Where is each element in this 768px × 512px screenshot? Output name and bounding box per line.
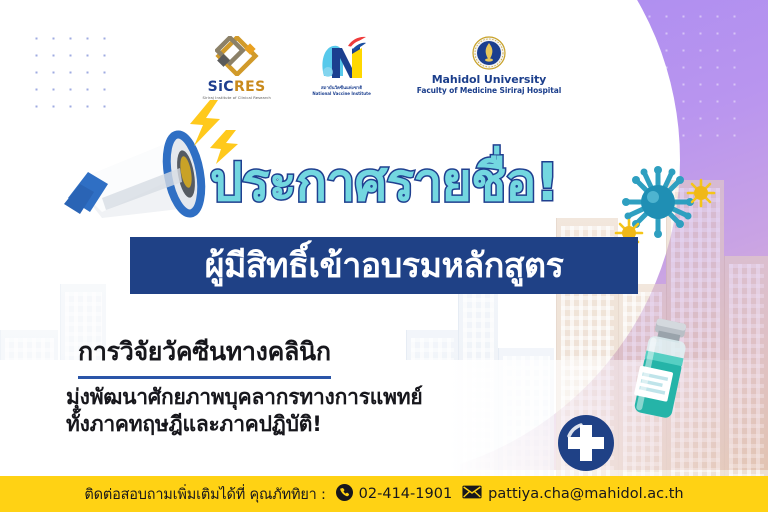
mahidol-name: Mahidol University	[432, 73, 547, 86]
body-line-1: มุ่งพัฒนาศักยภาพบุคลากรทางการแพทย์	[66, 384, 423, 411]
band-title: ผู้มีสิทธิ์เข้าอบรมหลักสูตร	[205, 249, 564, 283]
subtitle-band: ผู้มีสิทธิ์เข้าอบรมหลักสูตร	[130, 237, 638, 294]
body-copy: มุ่งพัฒนาศักยภาพบุคลากรทางการแพทย์ ทั้งภ…	[66, 384, 423, 438]
logo-row: SiCRES Siriraj Institute of Clinical Res…	[0, 36, 768, 100]
body-line-2: ทั้งภาคทฤษฎีและภาคปฏิบัติ!	[66, 411, 423, 438]
mahidol-logo: Mahidol University Faculty of Medicine S…	[417, 36, 561, 95]
vaccine-vial-icon	[628, 318, 694, 428]
mail-icon	[462, 485, 482, 503]
footer-email[interactable]: pattiya.cha@mahidol.ac.th	[462, 485, 683, 503]
headline-title: ประกาศรายชื่อ!	[0, 156, 768, 211]
sicres-subtitle: Siriraj Institute of Clinical Research	[202, 96, 270, 101]
sicres-wordmark: SiCRES	[208, 79, 266, 95]
footer-phone[interactable]: 02-414-1901	[336, 484, 453, 505]
sicres-logo: SiCRES Siriraj Institute of Clinical Res…	[207, 36, 267, 100]
footer-contact-label: ติดต่อสอบถามเพิ่มเติมได้ที่ คุณภัททิยา :	[84, 483, 325, 506]
footer-phone-number: 02-414-1901	[359, 486, 453, 502]
medical-cross-icon	[557, 414, 615, 472]
phone-icon	[336, 484, 353, 505]
nvi-mark-icon	[316, 36, 368, 82]
footer-email-address: pattiya.cha@mahidol.ac.th	[488, 486, 683, 502]
nvi-subtitle-en: National Vaccine Institute	[312, 91, 370, 96]
mahidol-seal-icon	[472, 36, 506, 70]
sicres-mark-icon	[215, 36, 259, 76]
poster-canvas: SiCRES Siriraj Institute of Clinical Res…	[0, 0, 768, 512]
nvi-logo: สถาบันวัคซีนแห่งชาติ National Vaccine In…	[312, 36, 370, 96]
mahidol-faculty: Faculty of Medicine Siriraj Hospital	[417, 86, 561, 95]
footer-contact-bar: ติดต่อสอบถามเพิ่มเติมได้ที่ คุณภัททิยา :…	[0, 476, 768, 512]
course-title: การวิจัยวัคซีนทางคลินิก	[78, 332, 331, 379]
nvi-subtitle-th: สถาบันวัคซีนแห่งชาติ	[321, 84, 362, 91]
